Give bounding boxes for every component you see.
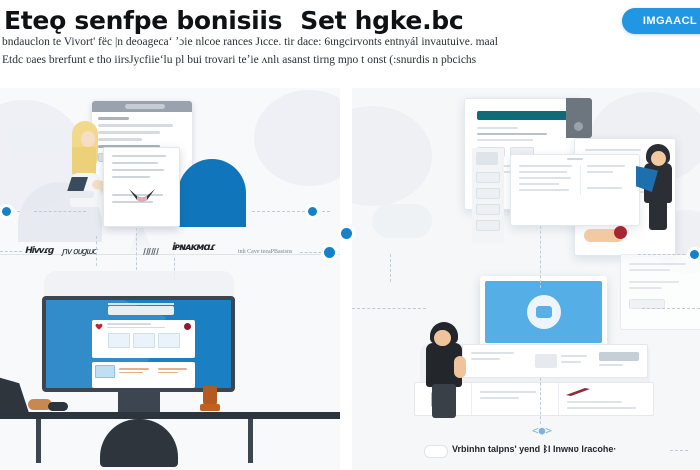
rail-item[interactable] — [476, 204, 500, 215]
connector-line — [96, 236, 97, 266]
landing-page: Eteǫ senfpe bonisiisSet hgke.bc bndauclo… — [0, 0, 700, 470]
thumbnail — [535, 354, 557, 368]
window-header-bar — [477, 111, 567, 120]
arm — [454, 356, 466, 378]
left-illustration-panel: ᕼiᴠᴠɾɡ ɲᴠ ᴏᴜɡɩᴜᴄ iᴘɴᴀᴋᴍɑɾ tnh Cave teeaP… — [0, 86, 340, 470]
annotation-scribble-3: iᴘɴᴀᴋᴍɑɾ — [171, 242, 216, 253]
caption-rule — [670, 450, 688, 451]
chair-armrest — [0, 376, 30, 416]
legs — [432, 384, 456, 418]
bg-blob — [352, 106, 432, 206]
blue-screen-card[interactable] — [480, 276, 607, 348]
shield-badge-icon — [527, 295, 561, 329]
rail-item[interactable] — [476, 172, 500, 183]
page-title: Eteǫ senfpe bonisiisSet hgke.bc — [4, 6, 463, 35]
hand-with-seal — [584, 224, 628, 246]
doc-line — [112, 162, 158, 164]
screen-surface — [485, 281, 602, 343]
legs — [649, 200, 667, 230]
doc-line — [112, 169, 164, 171]
window-grabber — [567, 158, 583, 160]
coffee-cup-base — [200, 404, 220, 411]
desk-surface — [60, 191, 94, 198]
result-row-card[interactable] — [462, 344, 648, 378]
annotation-dot[interactable] — [324, 247, 335, 258]
device-side-panel — [566, 98, 592, 138]
rail-item[interactable] — [476, 152, 498, 165]
desktop-monitor[interactable] — [42, 296, 235, 392]
content-line — [98, 117, 129, 120]
page-subtitle-line1: bndauclon te Vivort' fëc |n deoagecaʻ ʼɔ… — [2, 36, 498, 48]
annotation-scribble-2: ɲᴠ ᴏᴜɡɩᴜᴄ — [61, 247, 98, 257]
face — [434, 330, 451, 346]
office-chair — [100, 419, 178, 467]
connector-dot[interactable] — [308, 207, 317, 216]
computer-mouse — [48, 402, 68, 411]
thumbnail — [108, 333, 130, 348]
connector-line — [642, 308, 700, 309]
tick-marks — [144, 248, 158, 255]
thumbnail — [95, 365, 115, 378]
face — [81, 131, 95, 147]
rail-item[interactable] — [476, 188, 500, 199]
doc-line — [112, 155, 166, 157]
signature-icon — [128, 188, 156, 202]
heart-icon — [95, 323, 103, 330]
browser-url-pill — [125, 104, 165, 109]
window-card-front[interactable] — [510, 154, 640, 226]
window-card-faint[interactable] — [620, 254, 700, 330]
connector-line — [540, 378, 541, 424]
coffee-cup — [203, 386, 217, 406]
primary-cta-button[interactable]: IMGAACL — [622, 8, 700, 34]
thumbnail — [158, 333, 180, 348]
screen-rule — [108, 303, 174, 305]
monitor-stand — [118, 392, 160, 412]
page-title-part2: Set hgke.bc — [300, 6, 463, 35]
right-panel-caption: Vrbinhn talpns' yend ᛒl Inwɴʋ lɾacohe· — [452, 444, 616, 454]
bg-shape — [6, 126, 64, 156]
screen-header-bar — [108, 306, 174, 315]
desk-leg — [248, 419, 253, 463]
annotation-note: tnh Cave teeaPBasisns — [238, 249, 292, 255]
connector-line — [540, 226, 541, 288]
annotation-rule — [300, 252, 326, 253]
seal-stamp-icon — [614, 226, 627, 239]
decorative-semicircle — [178, 159, 246, 227]
badge — [599, 352, 639, 361]
face — [651, 151, 666, 166]
thumbnail — [133, 333, 155, 348]
connector-line — [390, 254, 391, 282]
avatar — [184, 323, 191, 330]
annotation-scribble-1: ᕼiᴠᴠɾɡ — [24, 246, 54, 256]
desk-leg — [36, 419, 41, 463]
bg-blob — [254, 90, 340, 186]
connector-line — [34, 211, 86, 212]
connector-dot[interactable] — [2, 207, 11, 216]
screen-window-primary — [92, 320, 195, 358]
code-brackets-icon: <●> — [532, 424, 552, 437]
annotation-rule — [0, 251, 22, 252]
desk-surface — [0, 412, 340, 419]
caption-pill-icon — [424, 445, 448, 458]
rail-item[interactable] — [476, 220, 500, 231]
connector-line — [252, 211, 330, 212]
illustration-panels: ᕼiᴠᴠɾɡ ɲᴠ ᴏᴜɡɩᴜᴄ iᴘɴᴀᴋᴍɑɾ tnh Cave teeaP… — [0, 86, 700, 470]
bg-shape — [372, 204, 432, 238]
connector-line — [352, 308, 426, 309]
divider-dot[interactable] — [341, 228, 352, 239]
page-header: Eteǫ senfpe bonisiisSet hgke.bc bndauclo… — [0, 0, 700, 88]
screen-window-secondary — [92, 362, 195, 388]
badge-inner — [536, 306, 552, 318]
page-title-part1: Eteǫ senfpe bonisiis — [4, 6, 282, 35]
right-illustration-panel: <●> Vrbinhn talpns' yend ᛒl Inwɴʋ lɾacoh… — [352, 86, 700, 470]
connector-line — [136, 228, 137, 270]
device-dial — [574, 122, 583, 131]
person-illustration-right — [640, 144, 680, 230]
document-card[interactable] — [103, 147, 180, 227]
browser-title-bar — [92, 101, 192, 112]
connector-dot[interactable] — [690, 250, 699, 259]
doc-line — [112, 176, 150, 178]
pen-icon — [565, 387, 591, 396]
page-subtitle-line2: Etdc ʋaes brerfunt e tho iirsJycfiieʻlu … — [2, 54, 476, 66]
person-illustration-right-2 — [424, 322, 468, 418]
panel-divider — [340, 86, 352, 470]
